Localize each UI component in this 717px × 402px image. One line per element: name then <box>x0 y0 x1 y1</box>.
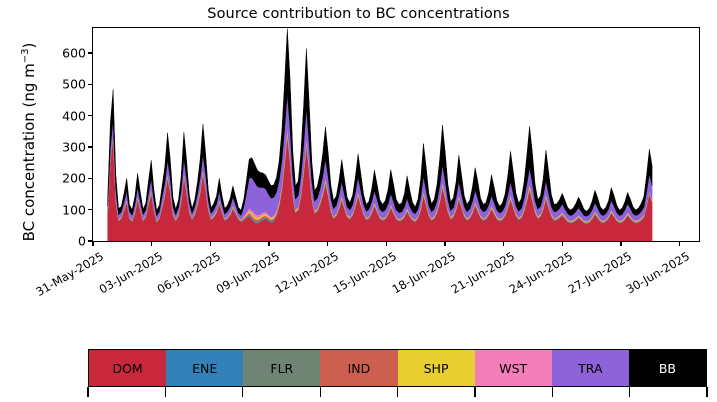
legend-item-label: SHP <box>424 361 449 376</box>
y-tick-mark <box>88 84 92 85</box>
legend-item-shp[interactable]: SHP <box>398 350 475 386</box>
legend-tick-mark <box>320 387 321 397</box>
legend-item-flr[interactable]: FLR <box>243 350 320 386</box>
legend-item-label: ENE <box>192 361 217 376</box>
legend-item-label: IND <box>348 361 371 376</box>
legend-tick-mark <box>629 387 630 397</box>
x-tick-mark <box>679 242 680 246</box>
legend-item-label: WST <box>499 361 527 376</box>
legend-item-tra[interactable]: TRA <box>552 350 629 386</box>
figure-canvas: Source contribution to BC concentrations… <box>0 0 717 402</box>
y-tick-mark <box>88 240 92 241</box>
y-tick-mark <box>88 209 92 210</box>
legend: DOMENEFLRINDSHPWSTTRABB <box>88 349 707 387</box>
legend-item-ene[interactable]: ENE <box>166 350 243 386</box>
x-tick-mark <box>386 242 387 246</box>
x-tick-mark <box>562 242 563 246</box>
legend-item-dom[interactable]: DOM <box>89 350 166 386</box>
legend-tick-mark <box>242 387 243 397</box>
x-tick-mark <box>503 242 504 246</box>
legend-item-label: DOM <box>112 361 142 376</box>
x-tick-mark <box>210 242 211 246</box>
x-tick-mark <box>268 242 269 246</box>
legend-tick-mark <box>474 387 475 397</box>
legend-tick-marks <box>0 387 717 399</box>
legend-tick-mark <box>706 387 707 397</box>
x-tick-mark <box>620 242 621 246</box>
y-tick-mark <box>88 115 92 116</box>
legend-item-label: FLR <box>270 361 293 376</box>
legend-tick-mark <box>87 387 88 397</box>
legend-item-ind[interactable]: IND <box>320 350 397 386</box>
y-tick-mark <box>88 146 92 147</box>
legend-item-bb[interactable]: BB <box>629 350 706 386</box>
x-tick-mark <box>327 242 328 246</box>
legend-tick-mark <box>397 387 398 397</box>
legend-item-label: BB <box>659 361 676 376</box>
x-tick-mark <box>444 242 445 246</box>
y-tick-mark <box>88 52 92 53</box>
legend-tick-mark <box>552 387 553 397</box>
x-axis-ticks: 31-May-202503-Jun-202506-Jun-202509-Jun-… <box>0 0 717 402</box>
y-tick-mark <box>88 178 92 179</box>
legend-item-label: TRA <box>578 361 602 376</box>
legend-tick-mark <box>165 387 166 397</box>
x-tick-mark <box>92 242 93 246</box>
x-tick-mark <box>151 242 152 246</box>
legend-item-wst[interactable]: WST <box>475 350 552 386</box>
